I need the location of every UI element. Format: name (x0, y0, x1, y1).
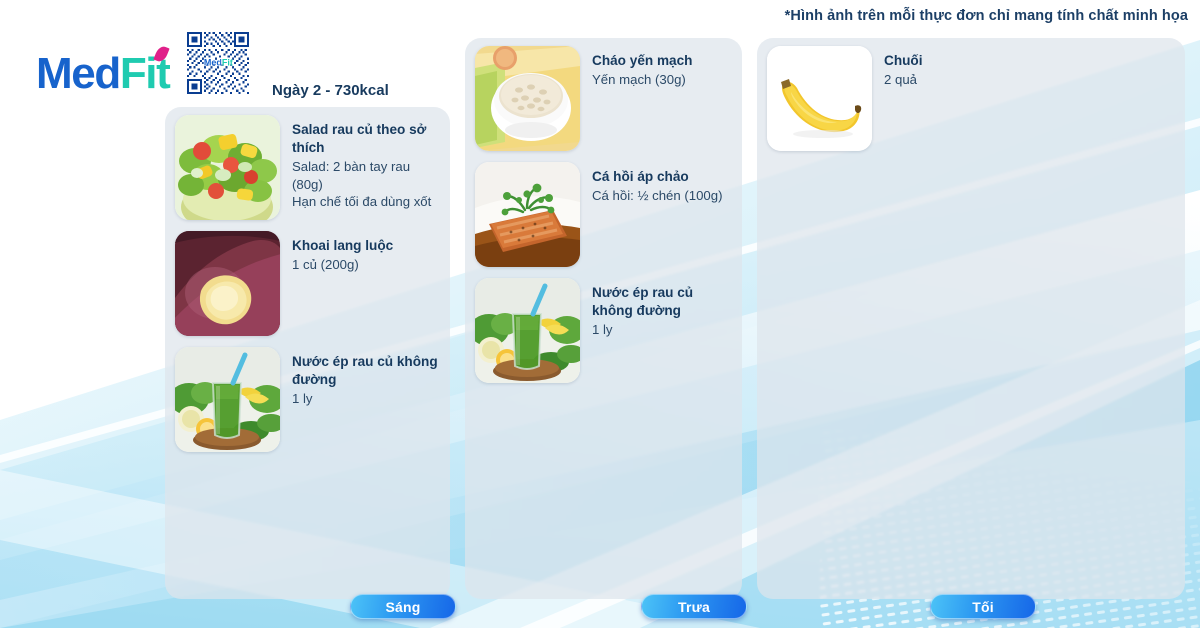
meal-item-text: Nước ép rau củ không đường 1 ly (592, 278, 734, 383)
oat-porridge-icon (475, 46, 580, 151)
meal-item-qty: 1 ly (292, 390, 442, 408)
menu-poster: *Hình ảnh trên mỗi thực đơn chỉ mang tín… (0, 0, 1200, 628)
meal-item: Cháo yến mạch Yến mạch (30g) (475, 46, 734, 151)
meal-item-name: Nước ép rau củ không đường (592, 284, 734, 320)
brand-row: MedFit (36, 32, 249, 96)
meal-panel-breakfast: Salad rau củ theo sở thích Salad: 2 bàn … (165, 107, 450, 599)
meal-item-name: Salad rau củ theo sở thích (292, 121, 442, 157)
meal-item: Chuối 2 quả (767, 46, 1177, 151)
green-vegetable-juice-image (475, 278, 580, 383)
boiled-sweet-potato-image (175, 231, 280, 336)
meal-item-qty: 2 quả (884, 71, 1174, 89)
pan-seared-salmon-image (475, 162, 580, 267)
meal-item-text: Khoai lang luộc 1 củ (200g) (292, 231, 442, 336)
meal-item: Nước ép rau củ không đường 1 ly (175, 347, 442, 452)
salad-bowl-image (175, 115, 280, 220)
qr-center-logo: MedFit (204, 59, 233, 68)
meal-item-qty: Yến mạch (30g) (592, 71, 734, 89)
meal-item-qty: 1 ly (592, 321, 734, 339)
meal-item-name: Cá hồi áp chảo (592, 168, 734, 186)
meal-item-name: Cháo yến mạch (592, 52, 734, 70)
green-juice-icon (475, 278, 580, 383)
day-calorie-label: Ngày 2 - 730kcal (272, 82, 389, 99)
oat-porridge-bowl-image (475, 46, 580, 151)
meal-item-list-dinner: Chuối 2 quả (767, 46, 1177, 162)
meal-item: Nước ép rau củ không đường 1 ly (475, 278, 734, 383)
meal-tab-breakfast[interactable]: Sáng (350, 594, 456, 619)
meal-item-name: Nước ép rau củ không đường (292, 353, 442, 389)
salad-bowl-icon (175, 115, 280, 220)
qr-code[interactable]: MedFit (187, 32, 249, 94)
meal-item-qty: 1 củ (200g) (292, 256, 442, 274)
meal-tab-lunch[interactable]: Trưa (641, 594, 747, 619)
meal-panel-lunch: Cháo yến mạch Yến mạch (30g) (465, 38, 742, 599)
meal-item-qty: Salad: 2 bàn tay rau (80g) Hạn chế tối đ… (292, 158, 442, 211)
meal-item-text: Nước ép rau củ không đường 1 ly (292, 347, 442, 452)
meal-item: Cá hồi áp chảo Cá hồi: ½ chén (100g) (475, 162, 734, 267)
meal-item-list-lunch: Cháo yến mạch Yến mạch (30g) (475, 46, 734, 394)
green-vegetable-juice-image (175, 347, 280, 452)
qr-logo-med: Med (204, 58, 222, 68)
medfit-logo: MedFit (36, 52, 169, 96)
meal-item-name: Chuối (884, 52, 1174, 70)
meal-item-qty: Cá hồi: ½ chén (100g) (592, 187, 734, 205)
meal-item: Khoai lang luộc 1 củ (200g) (175, 231, 442, 336)
meal-item-text: Cá hồi áp chảo Cá hồi: ½ chén (100g) (592, 162, 734, 267)
sweet-potato-icon (175, 231, 280, 336)
meal-panel-dinner: Chuối 2 quả (757, 38, 1185, 599)
disclaimer-note: *Hình ảnh trên mỗi thực đơn chỉ mang tín… (785, 8, 1188, 24)
meal-item: Salad rau củ theo sở thích Salad: 2 bàn … (175, 115, 442, 220)
qr-logo-fit: Fit (222, 58, 233, 68)
meal-item-text: Chuối 2 quả (884, 46, 1174, 151)
meal-item-name: Khoai lang luộc (292, 237, 442, 255)
meal-item-list-breakfast: Salad rau củ theo sở thích Salad: 2 bàn … (175, 115, 442, 463)
logo-text-med: Med (36, 49, 120, 98)
banana-image (767, 46, 872, 151)
meal-item-text: Salad rau củ theo sở thích Salad: 2 bàn … (292, 115, 442, 220)
meal-item-text: Cháo yến mạch Yến mạch (30g) (592, 46, 734, 151)
green-juice-icon (175, 347, 280, 452)
banana-icon (767, 46, 872, 151)
meal-tab-dinner[interactable]: Tối (930, 594, 1036, 619)
salmon-fillet-icon (475, 162, 580, 267)
